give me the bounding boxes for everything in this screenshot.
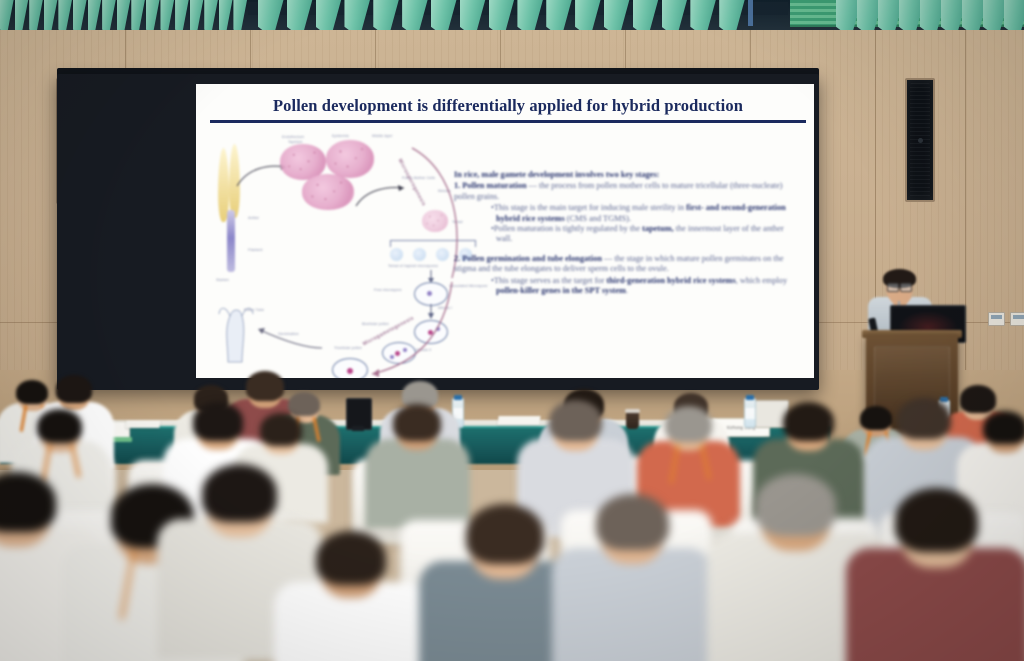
audience-hair <box>202 464 277 522</box>
audience-hair <box>393 404 441 441</box>
section2-dash: — <box>602 254 614 263</box>
conference-presentation-scene: Pollen development is differentially app… <box>0 0 1024 661</box>
outlet-1[interactable] <box>988 312 1005 326</box>
section1-bullets: •This stage is the main target for induc… <box>454 203 799 245</box>
audience-torso <box>365 439 470 527</box>
audience-hair <box>783 402 834 441</box>
audience-hair <box>897 398 951 440</box>
diagram-label-epidermis: Epidermis <box>332 134 349 138</box>
audience-hair <box>596 494 669 550</box>
section2-bullets: •This stage serves as the target for thi… <box>454 276 799 297</box>
s2b1-suffix2: . <box>626 286 628 295</box>
ceiling-baffle <box>1004 0 1024 34</box>
s2b1-bold2: pollen-killer genes in the SPT system <box>496 286 626 295</box>
audience-hair <box>288 392 320 417</box>
section2-heading: 2. Pollen germination and tube elongatio… <box>454 254 602 263</box>
diagram-label-middle-layer: Middle layer <box>372 134 393 138</box>
slide-title-underline <box>210 120 806 123</box>
slide-diagram: Stamen Anther Filament Endothecium Tapet… <box>204 136 456 374</box>
section2-bullet-1: •This stage serves as the target for thi… <box>496 276 799 297</box>
diagram-label-tapetum: Tapetum <box>288 140 302 144</box>
s1b2-prefix: •Pollen maturation is tightly regulated … <box>491 224 642 233</box>
audience-hair <box>895 488 978 552</box>
audience-hair <box>665 406 712 442</box>
glasses-icon <box>887 283 912 290</box>
slide-title-wrap: Pollen development is differentially app… <box>210 96 806 116</box>
diagram-label-stamen: Stamen <box>216 278 229 282</box>
slide-section-1: 1. Pollen maturation — the process from … <box>454 181 799 202</box>
s2b1-suffix: , which employ <box>736 276 787 285</box>
slide-body-text: In rice, male gamete development involve… <box>454 170 799 296</box>
audience-hair <box>16 380 48 405</box>
section1-bullet-1: •This stage is the main target for induc… <box>496 203 799 224</box>
filament-illustration <box>227 210 235 272</box>
slide-intro: In rice, male gamete development involve… <box>454 170 799 180</box>
wall-speaker-right-icon <box>905 78 935 202</box>
ceiling <box>0 0 1024 34</box>
audience-hair <box>316 531 386 585</box>
diagram-label-anther: Anther <box>248 216 259 220</box>
audience-torso <box>552 548 712 661</box>
slide-section-2: 2. Pollen germination and tube elongatio… <box>454 254 799 275</box>
audience-hair <box>983 411 1024 445</box>
wall-outlets[interactable] <box>988 312 1024 326</box>
audience-hair <box>549 400 602 441</box>
diagram-label-endothecium: Endothecium <box>282 135 304 139</box>
outlet-2[interactable] <box>1010 312 1024 326</box>
audience-hair <box>260 413 303 446</box>
section1-heading: 1. Pollen maturation <box>454 181 527 190</box>
audience-hair <box>466 504 544 564</box>
s1b1-prefix: •This stage is the main target for induc… <box>491 203 686 212</box>
audience <box>0 360 1024 661</box>
audience-hair <box>246 371 284 401</box>
diagram-label-pollen-tube: Pollen Tube <box>244 308 264 312</box>
section1-bullet-2: •Pollen maturation is tightly regulated … <box>496 224 799 245</box>
audience-hair <box>755 474 836 536</box>
diagram-label-filament: Filament <box>248 248 263 252</box>
s2b1-bold: third-generation hybrid rice systems <box>606 276 735 285</box>
s2b1-prefix: •This stage serves as the target for <box>491 276 606 285</box>
audience-hair <box>960 385 996 413</box>
s1b2-bold: tapetum, <box>642 224 674 233</box>
pollen-tube-illustration <box>216 304 256 366</box>
ceiling-blue-edge-right <box>748 0 753 26</box>
slide-content: Pollen development is differentially app… <box>196 84 814 378</box>
s1b1-suffix: (CMS and TGMS). <box>565 214 631 223</box>
section1-dash: — <box>527 181 539 190</box>
arrow-germination <box>252 322 326 354</box>
audience-hair <box>860 406 892 431</box>
audience-hair <box>193 402 243 440</box>
slide-title: Pollen development is differentially app… <box>210 96 806 116</box>
anther-lobe-section-3 <box>302 174 354 210</box>
audience-hair <box>56 375 92 403</box>
audience-hair <box>37 409 82 443</box>
